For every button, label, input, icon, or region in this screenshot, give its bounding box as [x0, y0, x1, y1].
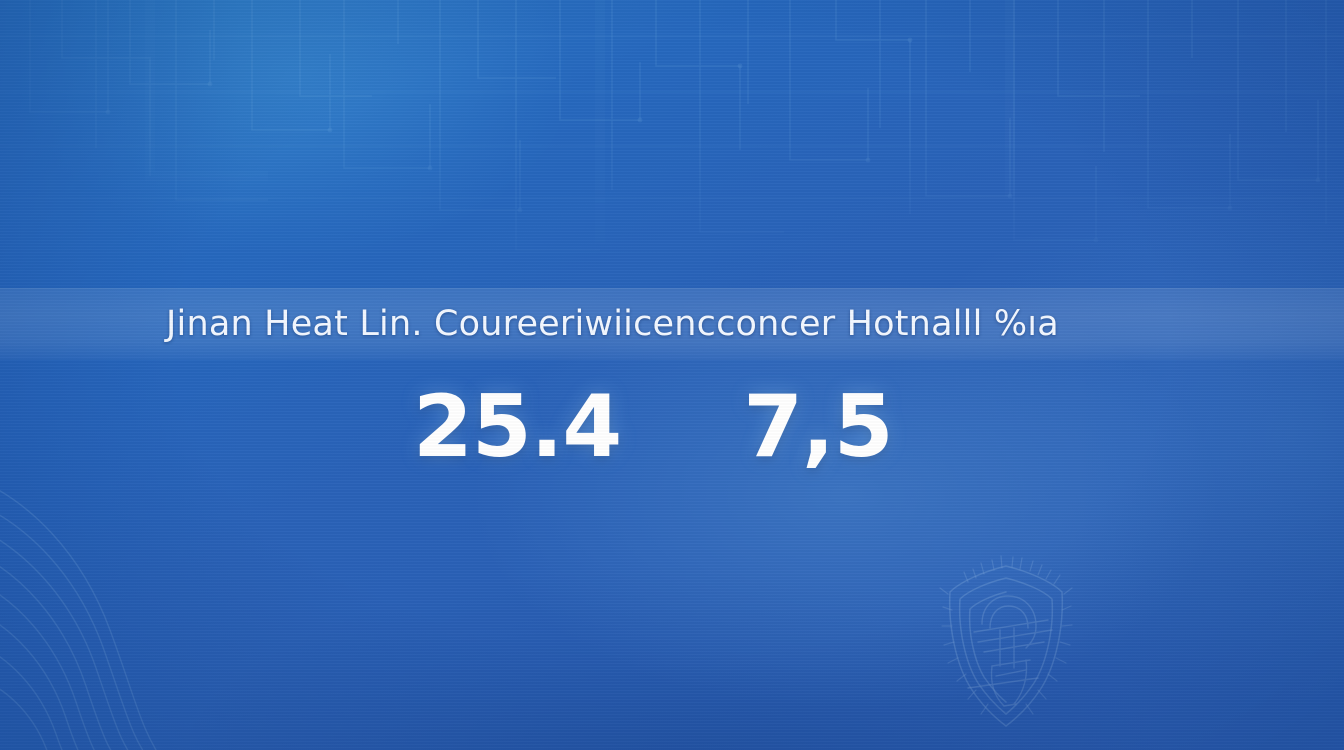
shield-emblem-watermark	[908, 548, 1104, 740]
title-banner: Jinan Heat Lin. Coureeriwiicencconcer Ho…	[0, 288, 1344, 360]
wave-decoration	[0, 470, 330, 750]
metrics-row: 25.4 7,5	[0, 372, 1344, 482]
circuit-texture	[0, 0, 1344, 300]
primary-readout-value: 25.4	[413, 384, 621, 470]
poster-canvas: Jinan Heat Lin. Coureeriwiicencconcer Ho…	[0, 0, 1344, 750]
page-title: Jinan Heat Lin. Coureeriwiicencconcer Ho…	[166, 304, 1059, 344]
secondary-readout-value: 7,5	[743, 384, 892, 470]
